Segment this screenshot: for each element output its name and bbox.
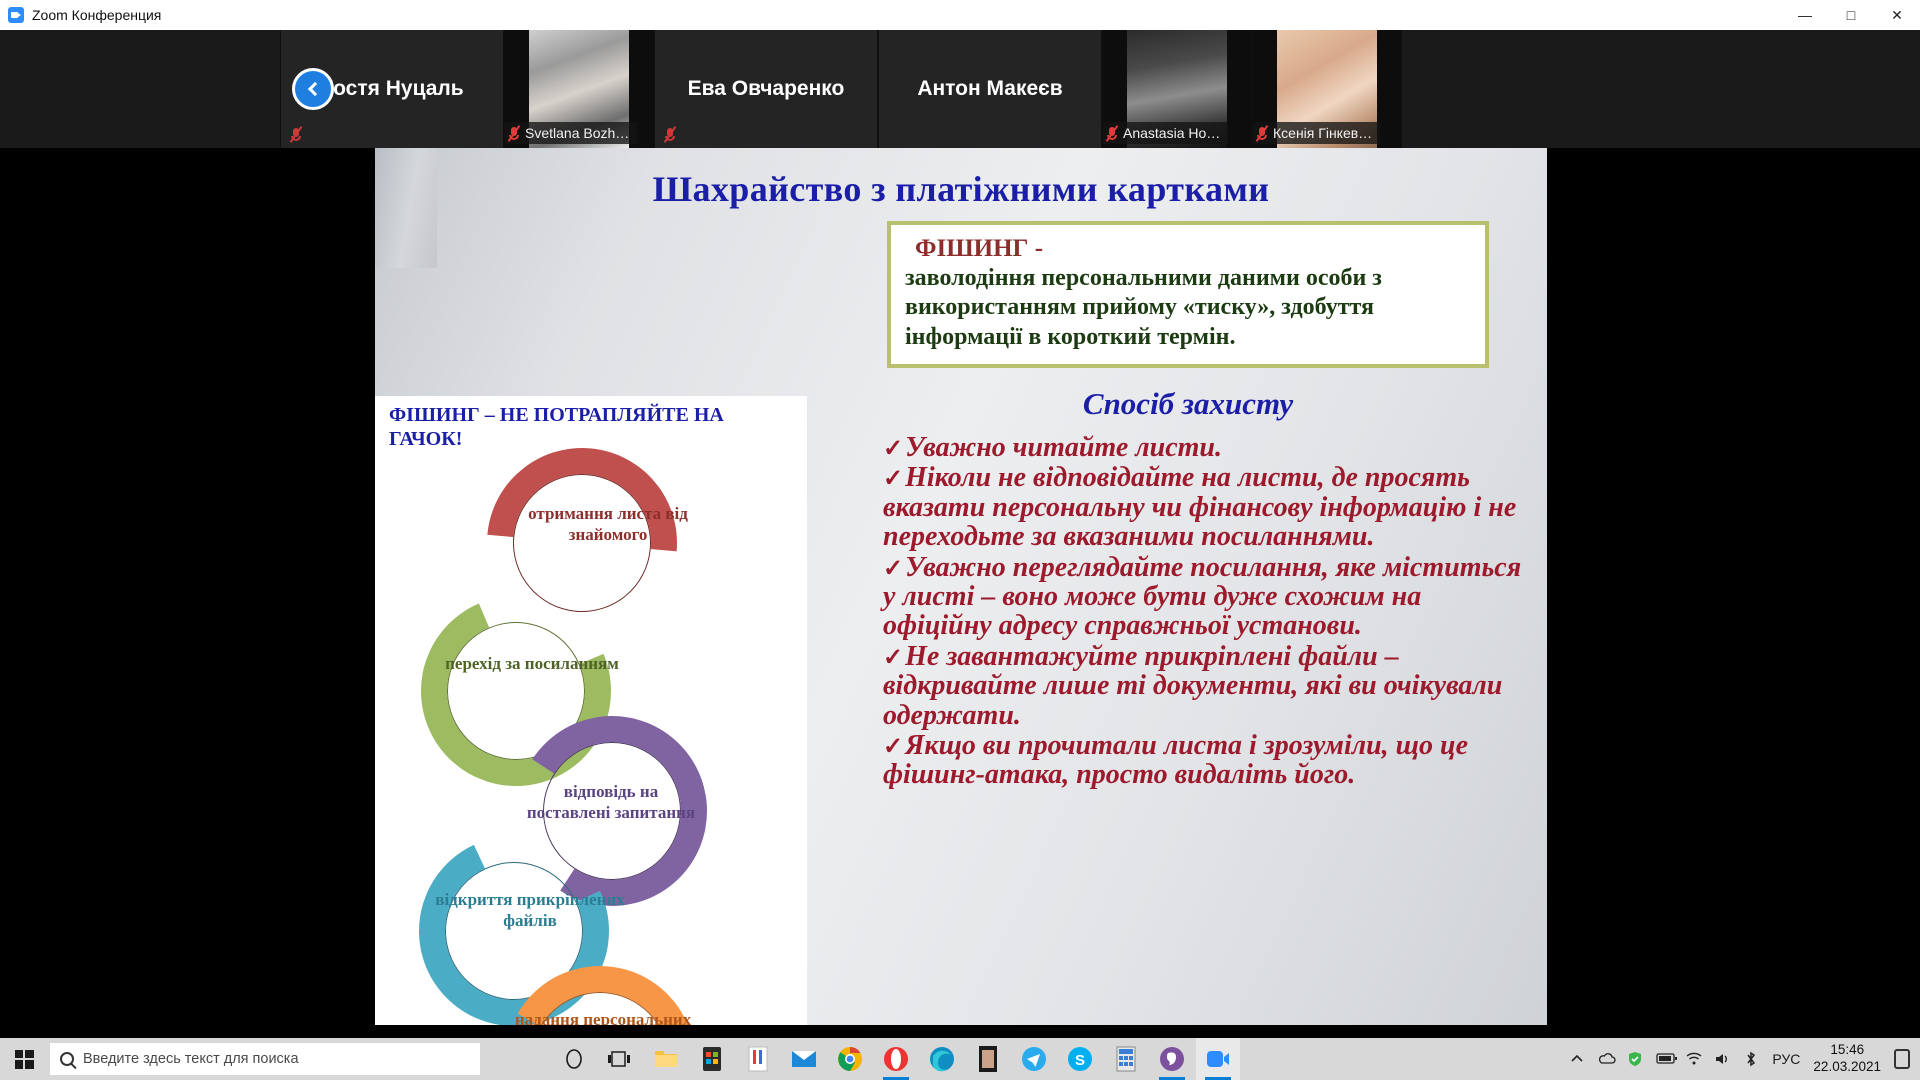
paint-icon[interactable] bbox=[736, 1038, 780, 1080]
window-title: Zoom Конференция bbox=[32, 7, 161, 23]
mic-muted-icon bbox=[665, 127, 676, 142]
cycle-label-4: відкриття прикріплених файлів bbox=[435, 890, 625, 931]
wifi-icon[interactable] bbox=[1685, 1051, 1701, 1067]
participant-tile-anastasia[interactable]: Anastasia Ho… bbox=[1102, 30, 1252, 148]
participant-tile-eva[interactable]: Ева Овчаренко bbox=[654, 30, 878, 148]
participant-name-badge: Anastasia Ho… bbox=[1103, 122, 1228, 144]
participant-name: Ева Овчаренко bbox=[688, 77, 845, 101]
microsoft-store-icon[interactable] bbox=[690, 1038, 734, 1080]
zoom-camera-icon bbox=[8, 7, 24, 23]
telegram-icon[interactable] bbox=[1012, 1038, 1056, 1080]
check-icon: ✓ bbox=[883, 734, 905, 760]
shared-screen-frame: Шахрайство з платіжними картками ФІШИНГ … bbox=[180, 148, 1740, 1038]
mic-muted-icon bbox=[509, 126, 520, 141]
mic-muted-icon bbox=[1107, 126, 1118, 141]
participant-name: Ксенія Гінкев… bbox=[1273, 125, 1372, 141]
opera-icon[interactable] bbox=[874, 1038, 918, 1080]
protection-item-text: Уважно переглядайте посилання, яке місти… bbox=[883, 552, 1521, 642]
svg-text:S: S bbox=[1075, 1052, 1085, 1069]
protection-item: ✓Не завантажуйте прикріплені файли – від… bbox=[883, 642, 1523, 730]
search-placeholder: Введите здесь текст для поиска bbox=[83, 1051, 299, 1067]
cycle-label-1: отримання листа від знайомого bbox=[523, 504, 693, 545]
windows-logo-icon bbox=[15, 1050, 34, 1069]
start-button[interactable] bbox=[0, 1038, 48, 1080]
cycle-label-5: надання персональних даних-втрата коштів bbox=[513, 1010, 693, 1025]
participant-tile-anton[interactable]: Антон Макеєв bbox=[878, 30, 1102, 148]
task-view-icon[interactable] bbox=[598, 1038, 642, 1080]
check-icon: ✓ bbox=[883, 466, 905, 492]
maximize-button[interactable]: □ bbox=[1828, 0, 1874, 30]
search-icon bbox=[60, 1052, 74, 1066]
action-center-icon[interactable] bbox=[1894, 1049, 1910, 1069]
volume-icon[interactable] bbox=[1714, 1051, 1730, 1067]
photo-app-icon[interactable] bbox=[966, 1038, 1010, 1080]
mic-muted-icon bbox=[291, 127, 302, 142]
shield-icon[interactable] bbox=[1627, 1051, 1643, 1067]
definition-text: заволодіння персональними даними особи з… bbox=[905, 264, 1471, 352]
participant-strip: Костя Нуцаль Svetlana Bozh… Ева Овчаренк… bbox=[0, 30, 1920, 148]
participant-name: Svetlana Bozh… bbox=[525, 125, 629, 141]
protection-item-text: Уважно читайте листи. bbox=[905, 432, 1222, 463]
show-hidden-icons-icon[interactable] bbox=[1569, 1051, 1585, 1067]
chevron-left-icon bbox=[308, 82, 322, 96]
check-icon: ✓ bbox=[883, 645, 905, 671]
clock[interactable]: 15:46 22.03.2021 bbox=[1813, 1042, 1881, 1076]
cycle-label-2: перехід за посиланням bbox=[437, 654, 627, 675]
windows-taskbar: Введите здесь текст для поиска bbox=[0, 1038, 1920, 1080]
window-controls: — □ ✕ bbox=[1782, 0, 1920, 30]
taskbar-apps: S bbox=[552, 1038, 1240, 1080]
window-title-bar: Zoom Конференция — □ ✕ bbox=[0, 0, 1920, 30]
viber-icon[interactable] bbox=[1150, 1038, 1194, 1080]
protection-heading: Спосіб захисту bbox=[887, 386, 1489, 422]
clock-date: 22.03.2021 bbox=[1813, 1059, 1881, 1076]
microsoft-edge-icon[interactable] bbox=[920, 1038, 964, 1080]
search-input[interactable]: Введите здесь текст для поиска bbox=[50, 1043, 480, 1075]
participant-tile-kseniia[interactable]: Ксенія Гінкев… bbox=[1252, 30, 1402, 148]
protection-item-text: Якщо ви прочитали листа і зрозуміли, що … bbox=[883, 730, 1468, 790]
mic-muted-icon bbox=[1257, 126, 1268, 141]
check-icon: ✓ bbox=[883, 556, 905, 582]
cycle-label-3: відповідь на поставлені запитання bbox=[521, 782, 701, 823]
check-icon: ✓ bbox=[883, 436, 905, 462]
cortana-icon[interactable] bbox=[552, 1038, 596, 1080]
protection-list: ✓Уважно читайте листи. ✓Ніколи не відпов… bbox=[883, 433, 1523, 791]
system-tray: РУС 15:46 22.03.2021 bbox=[1569, 1042, 1920, 1076]
calculator-icon[interactable] bbox=[1104, 1038, 1148, 1080]
protection-item: ✓Уважно переглядайте посилання, яке міст… bbox=[883, 553, 1523, 641]
bluetooth-icon[interactable] bbox=[1743, 1051, 1759, 1067]
definition-term: ФІШИНГ - bbox=[905, 235, 1471, 263]
participant-name-badge: Svetlana Bozh… bbox=[505, 122, 637, 144]
onedrive-icon[interactable] bbox=[1598, 1051, 1614, 1067]
battery-icon[interactable] bbox=[1656, 1051, 1672, 1067]
mail-icon[interactable] bbox=[782, 1038, 826, 1080]
protection-item: ✓Якщо ви прочитали листа і зрозуміли, що… bbox=[883, 731, 1523, 790]
phishing-cycle-diagram: ФІШИНГ – НЕ ПОТРАПЛЯЙТЕ НА ГАЧОК! отрима… bbox=[375, 396, 807, 1025]
file-explorer-icon[interactable] bbox=[644, 1038, 688, 1080]
google-chrome-icon[interactable] bbox=[828, 1038, 872, 1080]
participant-name: Костя Нуцаль bbox=[320, 77, 463, 101]
zoom-icon[interactable] bbox=[1196, 1038, 1240, 1080]
shared-screen-stage: Шахрайство з платіжними картками ФІШИНГ … bbox=[0, 148, 1920, 1038]
protection-item-text: Ніколи не відповідайте на листи, де прос… bbox=[883, 462, 1516, 552]
participant-name: Anastasia Ho… bbox=[1123, 125, 1220, 141]
clock-time: 15:46 bbox=[1813, 1042, 1881, 1059]
minimize-button[interactable]: — bbox=[1782, 0, 1828, 30]
back-button[interactable] bbox=[292, 68, 334, 110]
phishing-definition-box: ФІШИНГ - заволодіння персональними даним… bbox=[887, 221, 1489, 368]
strip-left-spacer bbox=[0, 30, 280, 148]
presentation-slide: Шахрайство з платіжними картками ФІШИНГ … bbox=[375, 148, 1547, 1025]
protection-item: ✓Ніколи не відповідайте на листи, де про… bbox=[883, 463, 1523, 551]
protection-item-text: Не завантажуйте прикріплені файли – відк… bbox=[883, 641, 1502, 731]
protection-item: ✓Уважно читайте листи. bbox=[883, 433, 1523, 462]
participant-name: Антон Макеєв bbox=[917, 77, 1062, 101]
close-button[interactable]: ✕ bbox=[1874, 0, 1920, 30]
skype-icon[interactable]: S bbox=[1058, 1038, 1102, 1080]
participant-tile-svetlana[interactable]: Svetlana Bozh… bbox=[504, 30, 654, 148]
slide-title: Шахрайство з платіжними картками bbox=[375, 168, 1547, 210]
participant-name-badge: Ксенія Гінкев… bbox=[1253, 122, 1380, 144]
diagram-heading: ФІШИНГ – НЕ ПОТРАПЛЯЙТЕ НА ГАЧОК! bbox=[389, 404, 789, 451]
language-indicator[interactable]: РУС bbox=[1772, 1051, 1800, 1067]
